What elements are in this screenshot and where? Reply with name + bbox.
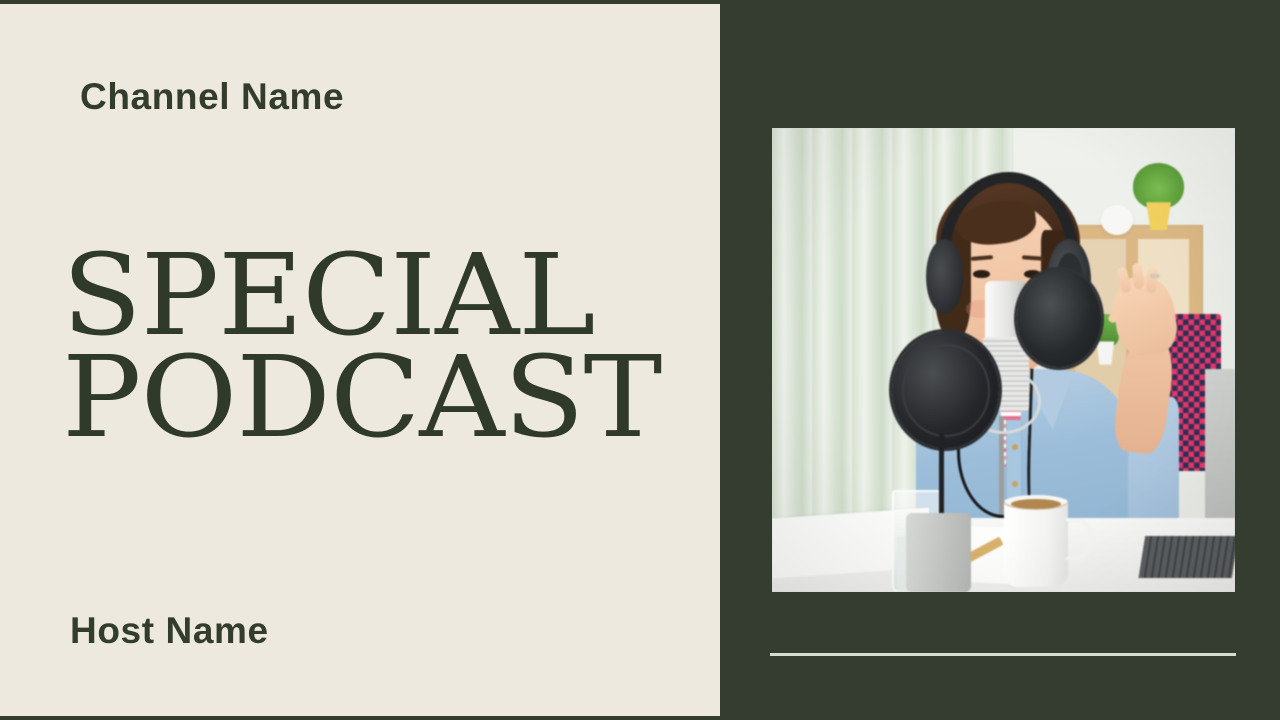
host-name-label: Host Name [70, 610, 269, 652]
eye-left [973, 270, 990, 278]
headphone-earcup-left [926, 239, 963, 313]
laptop-keyboard [1139, 536, 1235, 578]
finger-ring [1150, 274, 1160, 278]
podcast-host-photo [772, 128, 1235, 592]
white-round-object [1101, 205, 1133, 235]
coffee-mug-handle [1064, 518, 1094, 560]
top-edge-band [0, 0, 1280, 4]
eyebrow-right [1022, 255, 1044, 261]
bottom-edge-band [0, 716, 1280, 720]
right-media-panel [720, 4, 1280, 716]
potted-plant-leaves [1133, 163, 1184, 209]
laptop-screen [1205, 369, 1235, 536]
left-content-panel: Channel Name SPECIAL PODCAST Host Name [0, 4, 720, 716]
coffee-mug [1004, 499, 1069, 587]
condenser-microphone-front [906, 513, 971, 592]
slide-title: SPECIAL PODCAST [62, 248, 682, 447]
channel-name-label: Channel Name [80, 76, 344, 118]
title-line-podcast: PODCAST [62, 350, 716, 446]
finger [1146, 267, 1157, 293]
pop-filter-rear [1017, 270, 1100, 367]
title-line-special: SPECIAL [62, 248, 707, 344]
accent-divider-rule [770, 653, 1236, 656]
photo-illustration [772, 128, 1235, 592]
pop-filter-ring [902, 344, 990, 437]
podcast-cover-slide: Channel Name SPECIAL PODCAST Host Name [0, 0, 1280, 720]
